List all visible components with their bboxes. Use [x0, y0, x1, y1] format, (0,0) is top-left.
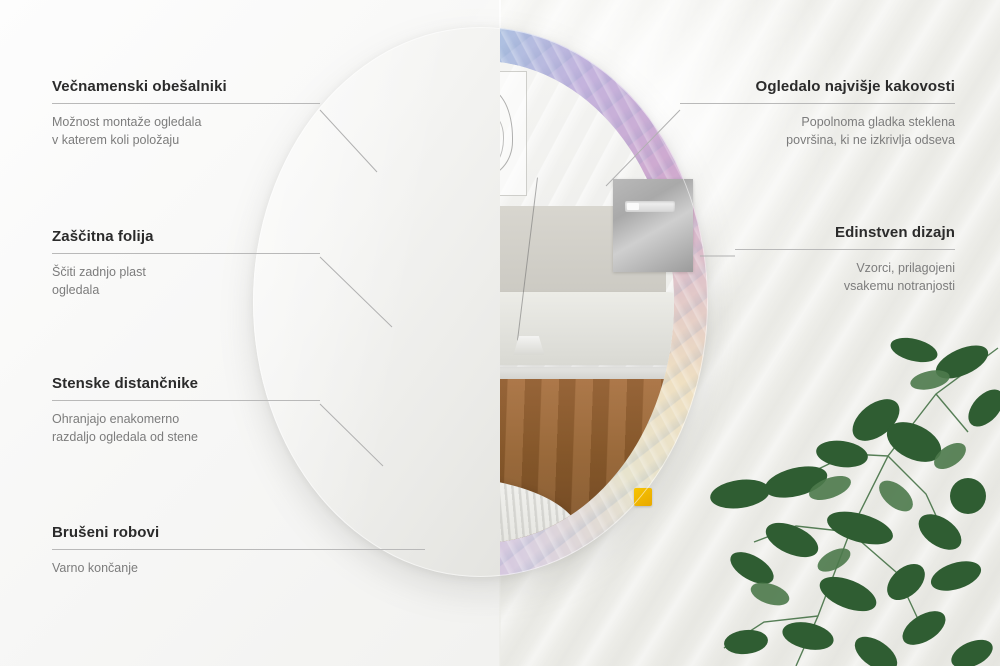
callout-rule: [52, 253, 320, 254]
callout-polished-edges: Brušeni robovi Varno končanje: [52, 524, 425, 577]
callout-top-quality-mirror: Ogledalo najvišje kakovosti Popolnoma gl…: [680, 78, 955, 149]
callout-description: Popolnoma gladka steklena površina, ki n…: [680, 113, 955, 149]
callout-description: Vzorci, prilagojeni vsakemu notranjosti: [735, 259, 955, 295]
callout-title: Večnamenski obešalniki: [52, 78, 320, 96]
callout-title: Zaščitna folija: [52, 228, 320, 246]
mirror-product: [253, 27, 708, 577]
callout-description: Možnost montaže ogledala v katerem koli …: [52, 113, 320, 149]
infographic-canvas: Večnamenski obešalniki Možnost montaže o…: [0, 0, 1000, 666]
mirror-glass-reflection: [500, 61, 674, 543]
wall-spacer-block: [634, 488, 652, 506]
callout-unique-design: Edinstven dizajn Vzorci, prilagojeni vsa…: [735, 224, 955, 295]
callout-title: Stenske distančnike: [52, 375, 320, 393]
callout-rule: [52, 103, 320, 104]
callout-description: Ohranjajo enakomerno razdaljo ogledala o…: [52, 410, 320, 446]
callout-rule: [52, 400, 320, 401]
callout-title: Edinstven dizajn: [735, 224, 955, 242]
callout-description: Varno končanje: [52, 559, 425, 577]
callout-title: Ogledalo najvišje kakovosti: [680, 78, 955, 96]
callout-title: Brušeni robovi: [52, 524, 425, 542]
callout-rule: [735, 249, 955, 250]
callout-rule: [680, 103, 955, 104]
hanger-slot-icon: [625, 201, 675, 212]
mirror-printed-rim: [500, 27, 708, 577]
callout-description: Ščiti zadnjo plast ogledala: [52, 263, 320, 299]
callout-rule: [52, 549, 425, 550]
callout-protective-foil: Zaščitna folija Ščiti zadnjo plast ogled…: [52, 228, 320, 299]
callout-wall-spacers: Stenske distančnike Ohranjajo enakomerno…: [52, 375, 320, 446]
mirror-front-half: [500, 27, 708, 577]
reflection-art-frame: [500, 71, 527, 196]
mirror-hanger-plate: [613, 179, 693, 272]
decorative-plant: [700, 336, 1000, 666]
callout-hangers: Večnamenski obešalniki Možnost montaže o…: [52, 78, 320, 149]
